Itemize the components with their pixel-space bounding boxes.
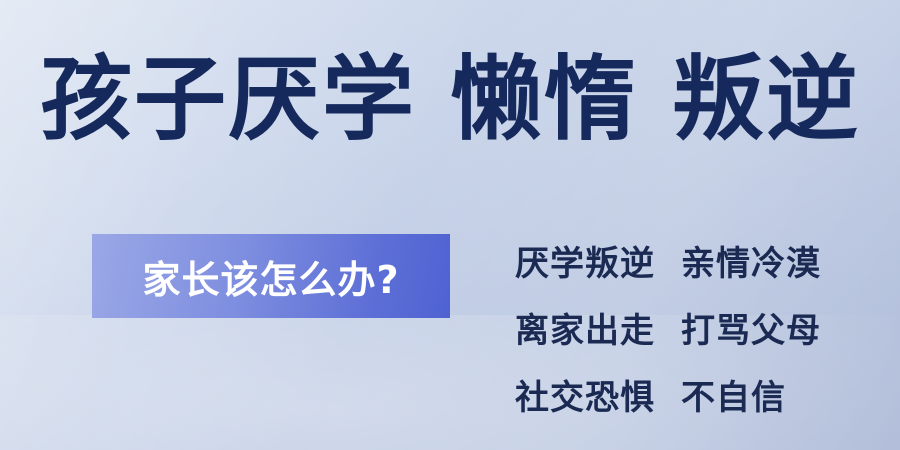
poster-canvas: 孩子厌学 懒惰 叛逆 家长该怎么办? 厌学叛逆 亲情冷漠 离家出走 打骂父母 社… (0, 0, 900, 450)
keyword-item: 打骂父母 (681, 303, 821, 352)
keyword-item: 厌学叛逆 (515, 236, 655, 285)
keyword-item: 不自信 (681, 370, 786, 419)
keyword-item: 社交恐惧 (515, 370, 655, 419)
keyword-item: 离家出走 (515, 303, 655, 352)
keyword-row: 厌学叛逆 亲情冷漠 (515, 236, 821, 285)
keyword-item: 亲情冷漠 (681, 236, 821, 285)
page-title: 孩子厌学 懒惰 叛逆 (0, 52, 900, 149)
keyword-row: 离家出走 打骂父母 (515, 303, 821, 352)
keyword-row: 社交恐惧 不自信 (515, 370, 821, 419)
question-banner: 家长该怎么办? (92, 234, 450, 318)
keyword-list: 厌学叛逆 亲情冷漠 离家出走 打骂父母 社交恐惧 不自信 (515, 236, 821, 419)
question-banner-label: 家长该怎么办? (142, 249, 399, 304)
